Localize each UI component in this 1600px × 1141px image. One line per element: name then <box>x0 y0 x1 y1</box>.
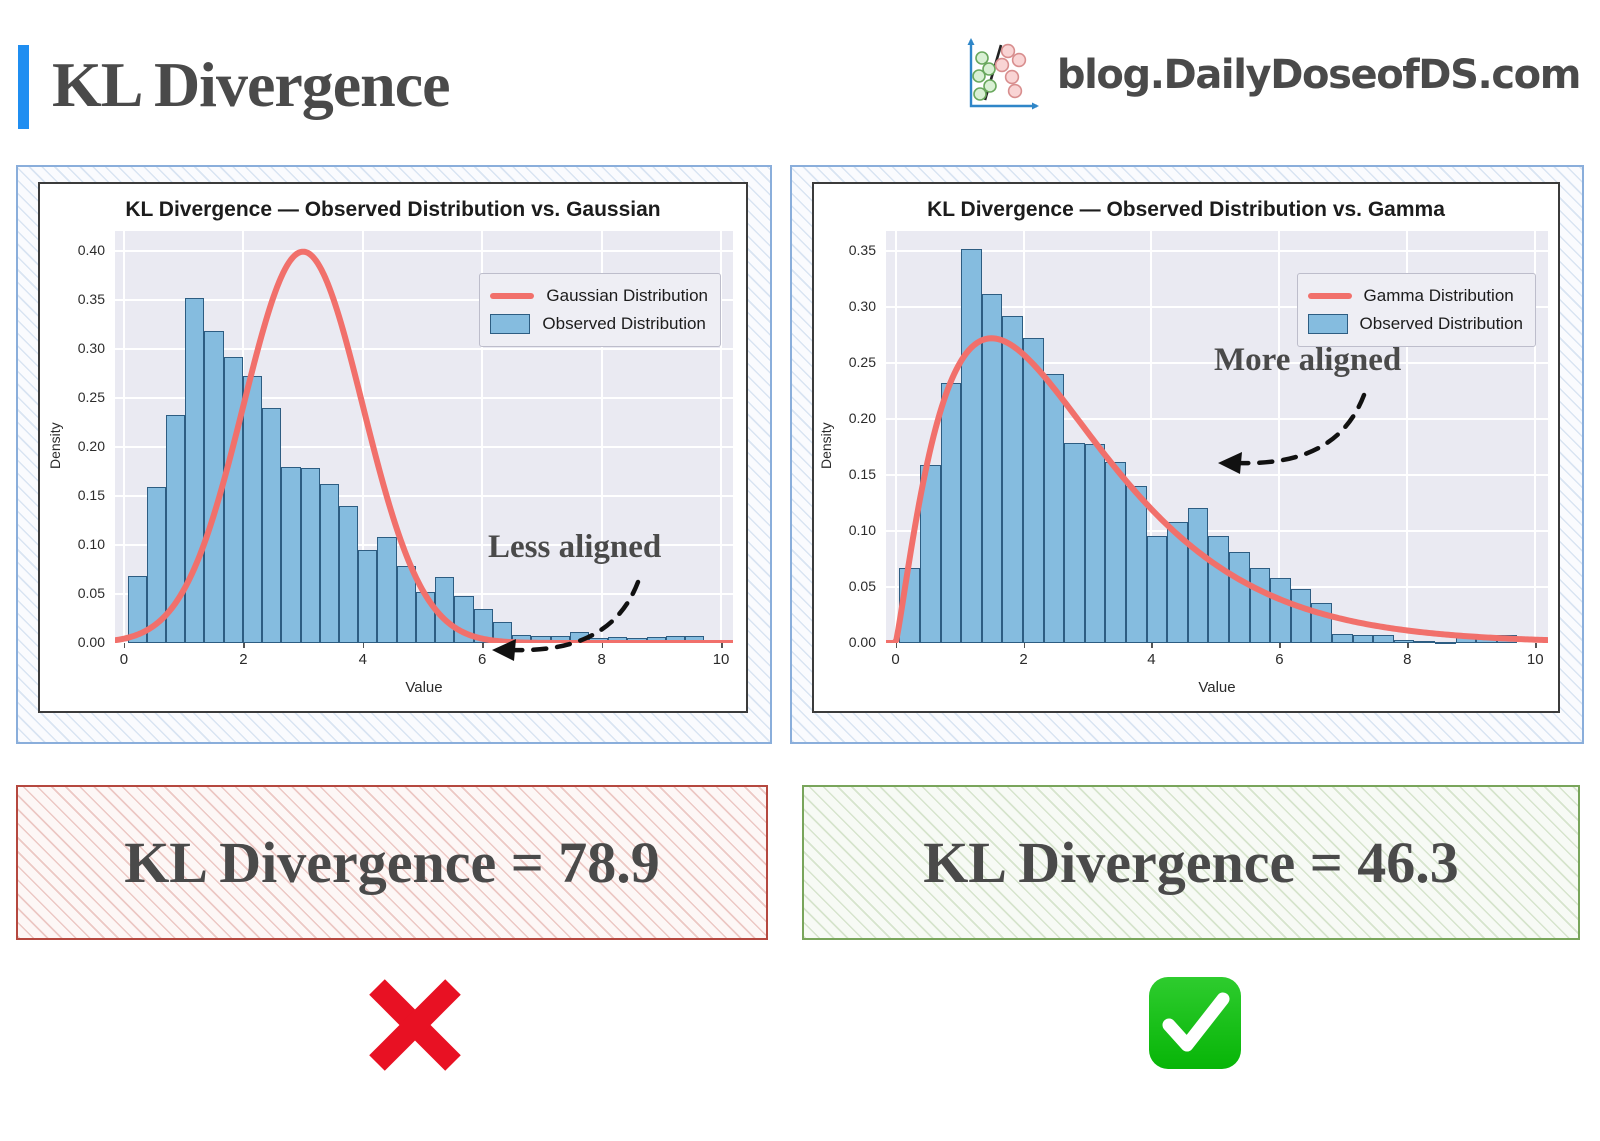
chart-card-gaussian: KL Divergence — Observed Distribution vs… <box>38 182 748 713</box>
kl-divergence-value-right: KL Divergence = 46.3 <box>923 829 1459 896</box>
x-axis-tick-mark <box>721 643 723 648</box>
x-axis-tick-mark <box>1279 643 1281 648</box>
x-axis-tick-mark <box>1535 643 1537 648</box>
x-axis-tick-label: 2 <box>218 651 268 668</box>
x-axis-tick-label: 8 <box>577 651 627 668</box>
legend-item-curve: Gaussian Distribution <box>490 282 708 310</box>
x-axis-tick-mark <box>243 643 245 648</box>
y-axis-tick-label: 0.30 <box>53 340 105 356</box>
scatter-plot-classifier-icon <box>957 32 1043 118</box>
chart-legend[interactable]: Gamma Distribution Observed Distribution <box>1297 273 1536 347</box>
y-axis-tick-label: 0.15 <box>824 466 876 482</box>
legend-line-icon <box>490 293 534 299</box>
x-axis-tick-label: 4 <box>338 651 388 668</box>
x-axis-label: Value <box>886 679 1548 696</box>
x-axis-tick-label: 6 <box>457 651 507 668</box>
x-axis-tick-mark <box>1151 643 1153 648</box>
x-axis-tick-label: 4 <box>1126 651 1176 668</box>
x-axis-tick-label: 10 <box>696 651 746 668</box>
chart-card-gamma: KL Divergence — Observed Distribution vs… <box>812 182 1560 713</box>
chart-legend[interactable]: Gaussian Distribution Observed Distribut… <box>479 273 721 347</box>
y-axis-tick-label: 0.05 <box>53 585 105 601</box>
annotation-text: More aligned <box>1214 342 1401 379</box>
x-axis-tick-label: 6 <box>1254 651 1304 668</box>
result-box-gamma: KL Divergence = 46.3 <box>802 785 1580 940</box>
legend-label: Observed Distribution <box>542 314 705 334</box>
x-axis-tick-label: 0 <box>871 651 921 668</box>
legend-swatch-icon <box>490 314 530 334</box>
x-axis-tick-mark <box>1407 643 1409 648</box>
x-axis-tick-label: 2 <box>999 651 1049 668</box>
y-axis-tick-label: 0.40 <box>53 242 105 258</box>
y-axis-tick-label: 0.20 <box>53 438 105 454</box>
y-axis-tick-label: 0.30 <box>824 298 876 314</box>
legend-item-curve: Gamma Distribution <box>1308 282 1523 310</box>
brand-logo: blog.DailyDoseofDS.com <box>957 32 1580 118</box>
legend-label: Gaussian Distribution <box>546 286 708 306</box>
x-axis-tick-label: 8 <box>1382 651 1432 668</box>
y-axis-tick-label: 0.35 <box>53 291 105 307</box>
chart-title: KL Divergence — Observed Distribution vs… <box>814 198 1558 222</box>
x-axis-tick-mark <box>896 643 898 648</box>
legend-line-icon <box>1308 293 1352 299</box>
legend-label: Observed Distribution <box>1360 314 1523 334</box>
result-box-gaussian: KL Divergence = 78.9 <box>16 785 768 940</box>
brand-text: blog.DailyDoseofDS.com <box>1057 52 1580 98</box>
y-axis-tick-label: 0.35 <box>824 242 876 258</box>
y-axis-tick-label: 0.05 <box>824 578 876 594</box>
y-axis-tick-label: 0.00 <box>53 634 105 650</box>
legend-item-histogram: Observed Distribution <box>1308 310 1523 338</box>
check-mark-button-icon <box>1135 965 1255 1085</box>
y-axis-tick-label: 0.25 <box>824 354 876 370</box>
y-axis-tick-label: 0.00 <box>824 634 876 650</box>
legend-label: Gamma Distribution <box>1364 286 1514 306</box>
y-axis-tick-label: 0.15 <box>53 487 105 503</box>
legend-item-histogram: Observed Distribution <box>490 310 708 338</box>
kl-divergence-value-left: KL Divergence = 78.9 <box>124 829 660 896</box>
legend-swatch-icon <box>1308 314 1348 334</box>
chart-panel-gamma: KL Divergence — Observed Distribution vs… <box>790 165 1584 744</box>
annotation-text: Less aligned <box>488 529 661 566</box>
page-title: KL Divergence <box>52 48 450 122</box>
x-axis-tick-label: 10 <box>1510 651 1560 668</box>
x-axis-tick-mark <box>1024 643 1026 648</box>
page-header: KL Divergence blog.DailyDoseofDS.com <box>0 0 1600 148</box>
chart-panel-gaussian: KL Divergence — Observed Distribution vs… <box>16 165 772 744</box>
x-axis-tick-mark <box>124 643 126 648</box>
title-accent-bar <box>18 45 29 129</box>
y-axis-tick-label: 0.10 <box>53 536 105 552</box>
y-axis-tick-label: 0.10 <box>824 522 876 538</box>
dashed-curved-arrow-icon <box>1196 387 1376 497</box>
x-axis-tick-mark <box>602 643 604 648</box>
cross-mark-icon <box>355 965 475 1085</box>
x-axis-tick-mark <box>482 643 484 648</box>
x-axis-tick-mark <box>363 643 365 648</box>
y-axis-tick-label: 0.20 <box>824 410 876 426</box>
y-axis-label: Density <box>818 422 834 469</box>
y-axis-tick-label: 0.25 <box>53 389 105 405</box>
chart-title: KL Divergence — Observed Distribution vs… <box>40 198 746 222</box>
x-axis-tick-label: 0 <box>99 651 149 668</box>
